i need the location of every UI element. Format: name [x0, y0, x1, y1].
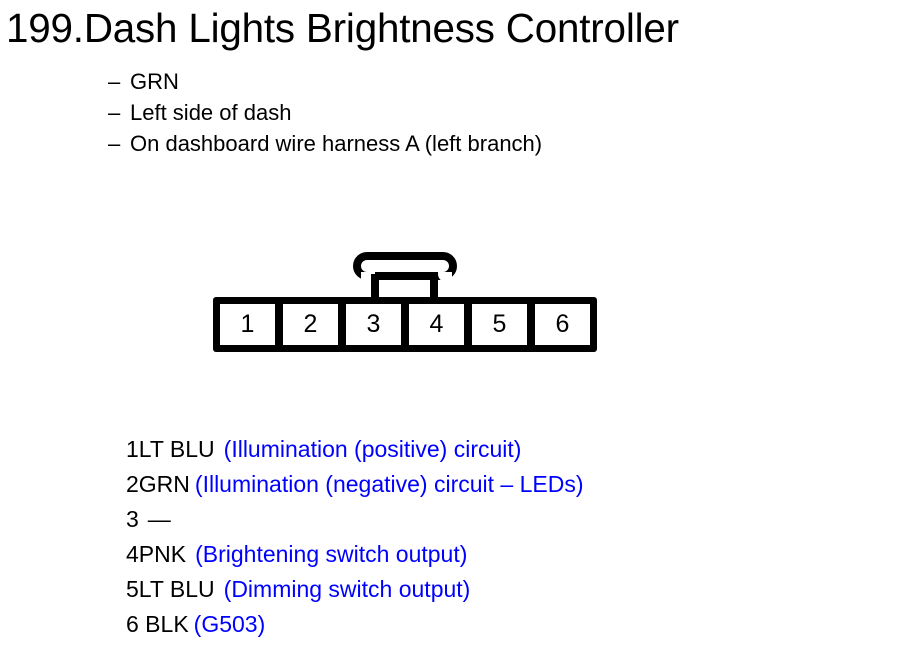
note-item: –Left side of dash [108, 97, 808, 128]
connector-pin-5: 5 [472, 304, 527, 345]
pin-assignment-list: 1LT BLU(Illumination (positive) circuit)… [126, 432, 584, 642]
pin-identifier: 1LT BLU [126, 436, 215, 462]
connector-pin-6: 6 [535, 304, 590, 345]
connector-pin-1: 1 [220, 304, 275, 345]
pin-description: (G503) [194, 611, 266, 637]
pin-row: 6 BLK(G503) [126, 607, 584, 642]
pin-row: 2GRN(Illumination (negative) circuit – L… [126, 467, 584, 502]
note-item-label: On dashboard wire harness A (left branch… [130, 131, 542, 156]
pin-identifier: 2GRN [126, 471, 190, 497]
connector-pin-3: 3 [346, 304, 401, 345]
note-item: –On dashboard wire harness A (left branc… [108, 128, 808, 159]
page-title: 199.Dash Lights Brightness Controller [6, 2, 885, 54]
pin-description: (Brightening switch output) [195, 541, 467, 567]
notes-list: –GRN –Left side of dash –On dashboard wi… [108, 66, 808, 159]
note-item-label: GRN [130, 69, 179, 94]
pin-row: 3— [126, 502, 584, 537]
bullet-dash-icon: – [108, 66, 130, 97]
pin-empty-dash-icon: — [148, 506, 171, 532]
pin-row: 5LT BLU(Dimming switch output) [126, 572, 584, 607]
connector-pin-2: 2 [283, 304, 338, 345]
bullet-dash-icon: – [108, 97, 130, 128]
pin-description: (Illumination (negative) circuit – LEDs) [195, 471, 584, 497]
pin-row: 4PNK(Brightening switch output) [126, 537, 584, 572]
pin-identifier: 6 BLK [126, 611, 189, 637]
pin-description: (Dimming switch output) [224, 576, 471, 602]
connector-body: 1 2 3 4 5 6 [213, 297, 597, 352]
pin-identifier: 4PNK [126, 541, 186, 567]
pin-description: (Illumination (positive) circuit) [224, 436, 522, 462]
note-item: –GRN [108, 66, 808, 97]
note-item-label: Left side of dash [130, 100, 291, 125]
pin-row: 1LT BLU(Illumination (positive) circuit) [126, 432, 584, 467]
connector-pin-4: 4 [409, 304, 464, 345]
connector-diagram: 1 2 3 4 5 6 [213, 252, 597, 352]
latch-fillet-right [438, 272, 452, 282]
bullet-dash-icon: – [108, 128, 130, 159]
pin-identifier: 5LT BLU [126, 576, 215, 602]
pin-identifier: 3 [126, 506, 139, 532]
